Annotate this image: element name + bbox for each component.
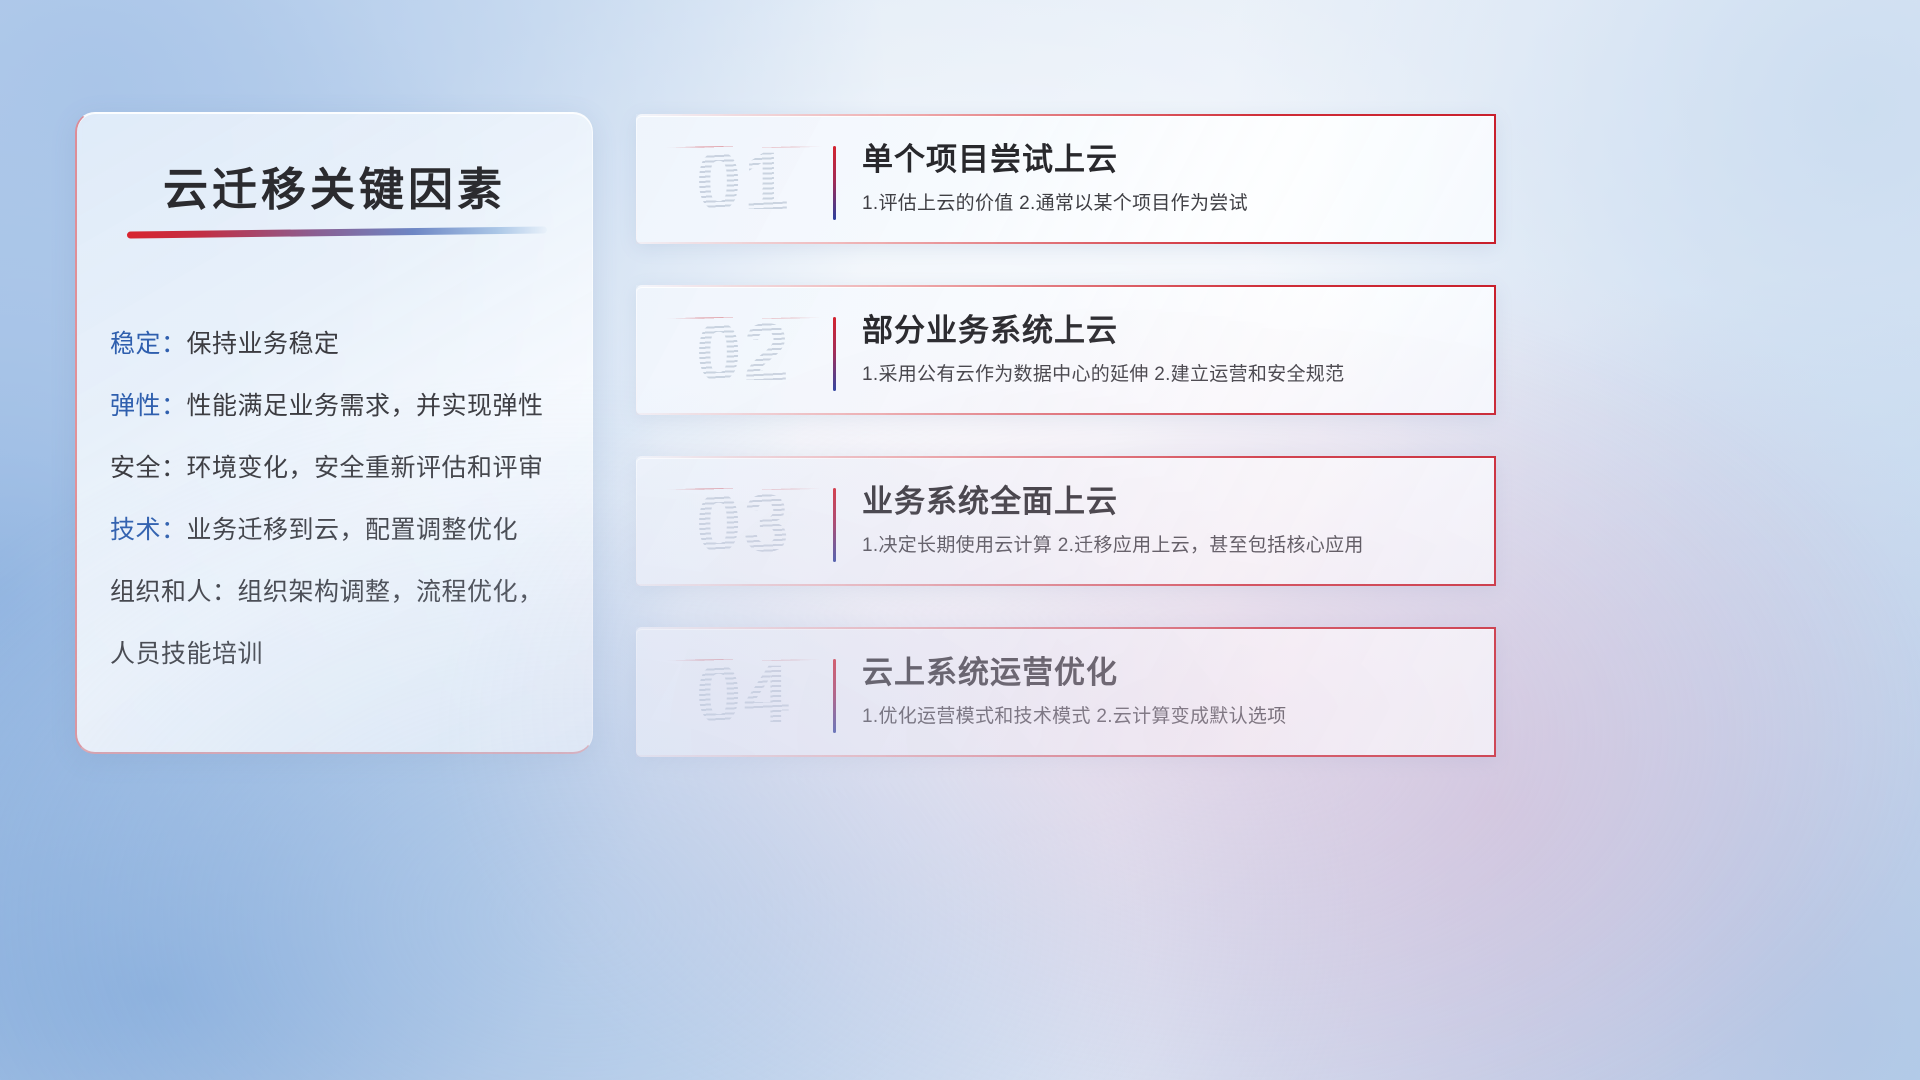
factor-text: 业务迁移到云，配置调整优化 (187, 516, 519, 544)
stage-description: 1.评估上云的价值 2.通常以某个项目作为尝试 (862, 190, 1472, 218)
accent-bar (833, 146, 836, 220)
factor-item: 稳定：保持业务稳定 (110, 313, 568, 375)
stage-card[interactable]: 03 业务系统全面上云 1.决定长期使用云计算 2.迁移应用上云，甚至包括核心应… (636, 456, 1496, 586)
factor-label: 组织和人： (110, 578, 238, 606)
stage-description: 1.优化运营模式和技术模式 2.云计算变成默认选项 (862, 703, 1472, 731)
factor-text: 性能满足业务需求，并实现弹性 (187, 392, 544, 420)
stage-number: 03 (661, 470, 826, 578)
factor-label: 安全： (110, 454, 187, 482)
factor-text: 组织架构调整，流程优化， (238, 578, 544, 606)
stage-card-body: 部分业务系统上云 1.采用公有云作为数据中心的延伸 2.建立运营和安全规范 (862, 309, 1472, 389)
accent-bar (833, 488, 836, 562)
factor-item: 安全：环境变化，安全重新评估和评审 (110, 437, 568, 499)
factor-item: 技术：业务迁移到云，配置调整优化 (110, 499, 568, 561)
factor-item: 弹性：性能满足业务需求，并实现弹性 (110, 375, 568, 437)
factor-label: 稳定： (110, 330, 187, 358)
factor-label: 技术： (110, 516, 187, 544)
factor-list: 稳定：保持业务稳定 弹性：性能满足业务需求，并实现弹性 安全：环境变化，安全重新… (110, 313, 568, 685)
factor-item-continuation: 人员技能培训 (110, 623, 568, 685)
stage-card[interactable]: 04 云上系统运营优化 1.优化运营模式和技术模式 2.云计算变成默认选项 (636, 627, 1496, 757)
stage-number: 01 (661, 128, 826, 236)
stage-title: 业务系统全面上云 (862, 480, 1472, 524)
accent-bar (833, 317, 836, 391)
stage-title: 部分业务系统上云 (862, 309, 1472, 353)
stage-description: 1.采用公有云作为数据中心的延伸 2.建立运营和安全规范 (862, 361, 1472, 389)
factor-text: 保持业务稳定 (187, 330, 340, 358)
factor-text: 人员技能培训 (110, 640, 263, 668)
stage-card-body: 业务系统全面上云 1.决定长期使用云计算 2.迁移应用上云，甚至包括核心应用 (862, 480, 1472, 560)
stage-card[interactable]: 02 部分业务系统上云 1.采用公有云作为数据中心的延伸 2.建立运营和安全规范 (636, 285, 1496, 415)
factor-label: 弹性： (110, 392, 187, 420)
stage-card[interactable]: 01 单个项目尝试上云 1.评估上云的价值 2.通常以某个项目作为尝试 (636, 114, 1496, 244)
stage-number: 02 (661, 299, 826, 407)
stage-number: 04 (661, 641, 826, 749)
stage-card-body: 云上系统运营优化 1.优化运营模式和技术模式 2.云计算变成默认选项 (862, 651, 1472, 731)
title-underline-gradient (127, 226, 547, 238)
key-factors-panel: 云迁移关键因素 稳定：保持业务稳定 弹性：性能满足业务需求，并实现弹性 安全：环… (75, 112, 593, 754)
slide-canvas: 云迁移关键因素 稳定：保持业务稳定 弹性：性能满足业务需求，并实现弹性 安全：环… (0, 0, 1920, 1080)
accent-bar (833, 659, 836, 733)
factor-text: 环境变化，安全重新评估和评审 (187, 454, 544, 482)
stage-card-list: 01 单个项目尝试上云 1.评估上云的价值 2.通常以某个项目作为尝试 02 部… (636, 114, 1496, 798)
panel-title: 云迁移关键因素 (77, 153, 592, 218)
stage-title: 单个项目尝试上云 (862, 138, 1472, 182)
factor-item: 组织和人：组织架构调整，流程优化， (110, 561, 568, 623)
stage-description: 1.决定长期使用云计算 2.迁移应用上云，甚至包括核心应用 (862, 532, 1472, 560)
stage-title: 云上系统运营优化 (862, 651, 1472, 695)
stage-card-body: 单个项目尝试上云 1.评估上云的价值 2.通常以某个项目作为尝试 (862, 138, 1472, 218)
